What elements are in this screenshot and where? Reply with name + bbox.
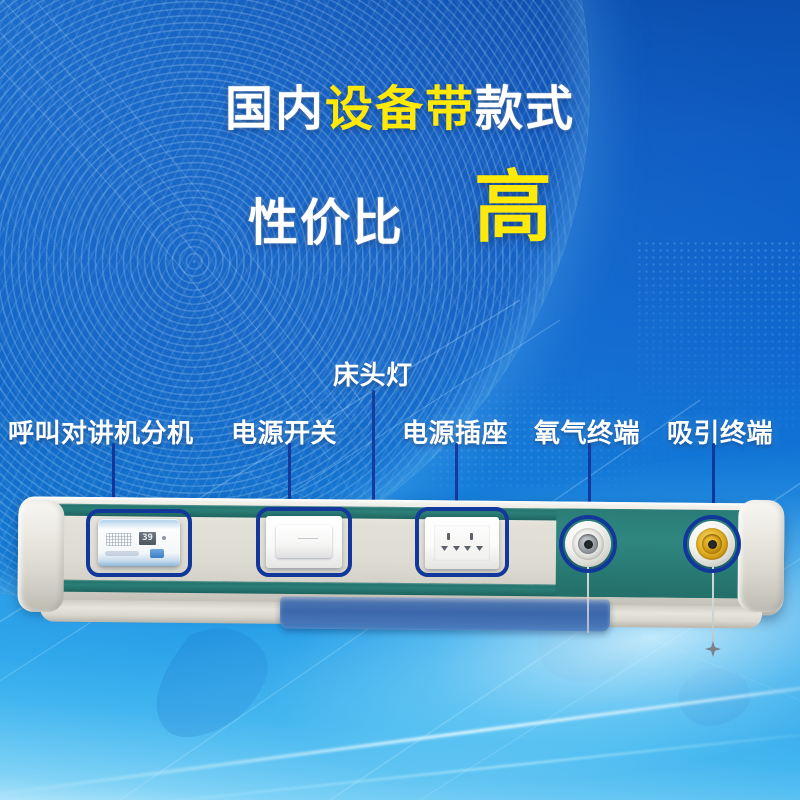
highlight-box-power-socket (415, 507, 509, 577)
headline-line-1: 国内设备带款式 (0, 86, 800, 134)
headline-part-2-highlight: 设备带 (325, 83, 475, 136)
headline-part-3: 款式 (475, 83, 575, 136)
headline-line-2: 性价比高 (0, 168, 800, 248)
panel-end-cap-left (17, 500, 64, 612)
medical-bed-head-unit: 39 (18, 495, 784, 630)
callout-label-intercom: 呼叫对讲机分机 (8, 413, 194, 450)
headline-emphasis-word: 高 (474, 163, 552, 251)
callout-label-power-switch: 电源开关 (231, 413, 337, 450)
highlight-circle-oxygen (559, 515, 617, 573)
product-banner: 国内设备带款式 性价比高 呼叫对讲机分机 电源开关 床头灯 电源插座 氧气终端 … (0, 0, 800, 800)
callout-label-bed-lamp: 床头灯 (333, 355, 413, 392)
headline-part-1: 国内 (225, 83, 325, 136)
highlight-box-power-switch (256, 507, 352, 577)
suction-port-cord (712, 567, 714, 645)
headline-subtitle: 性价比 (248, 195, 404, 251)
callout-label-suction: 吸引终端 (667, 413, 773, 450)
callout-label-oxygen: 氧气终端 (534, 413, 640, 450)
bed-lamp-diffuser[interactable] (280, 596, 610, 631)
oxygen-port-cord (587, 567, 589, 633)
highlight-box-intercom (86, 509, 192, 577)
panel-end-cap-right (737, 500, 784, 612)
highlight-circle-suction (683, 515, 741, 573)
